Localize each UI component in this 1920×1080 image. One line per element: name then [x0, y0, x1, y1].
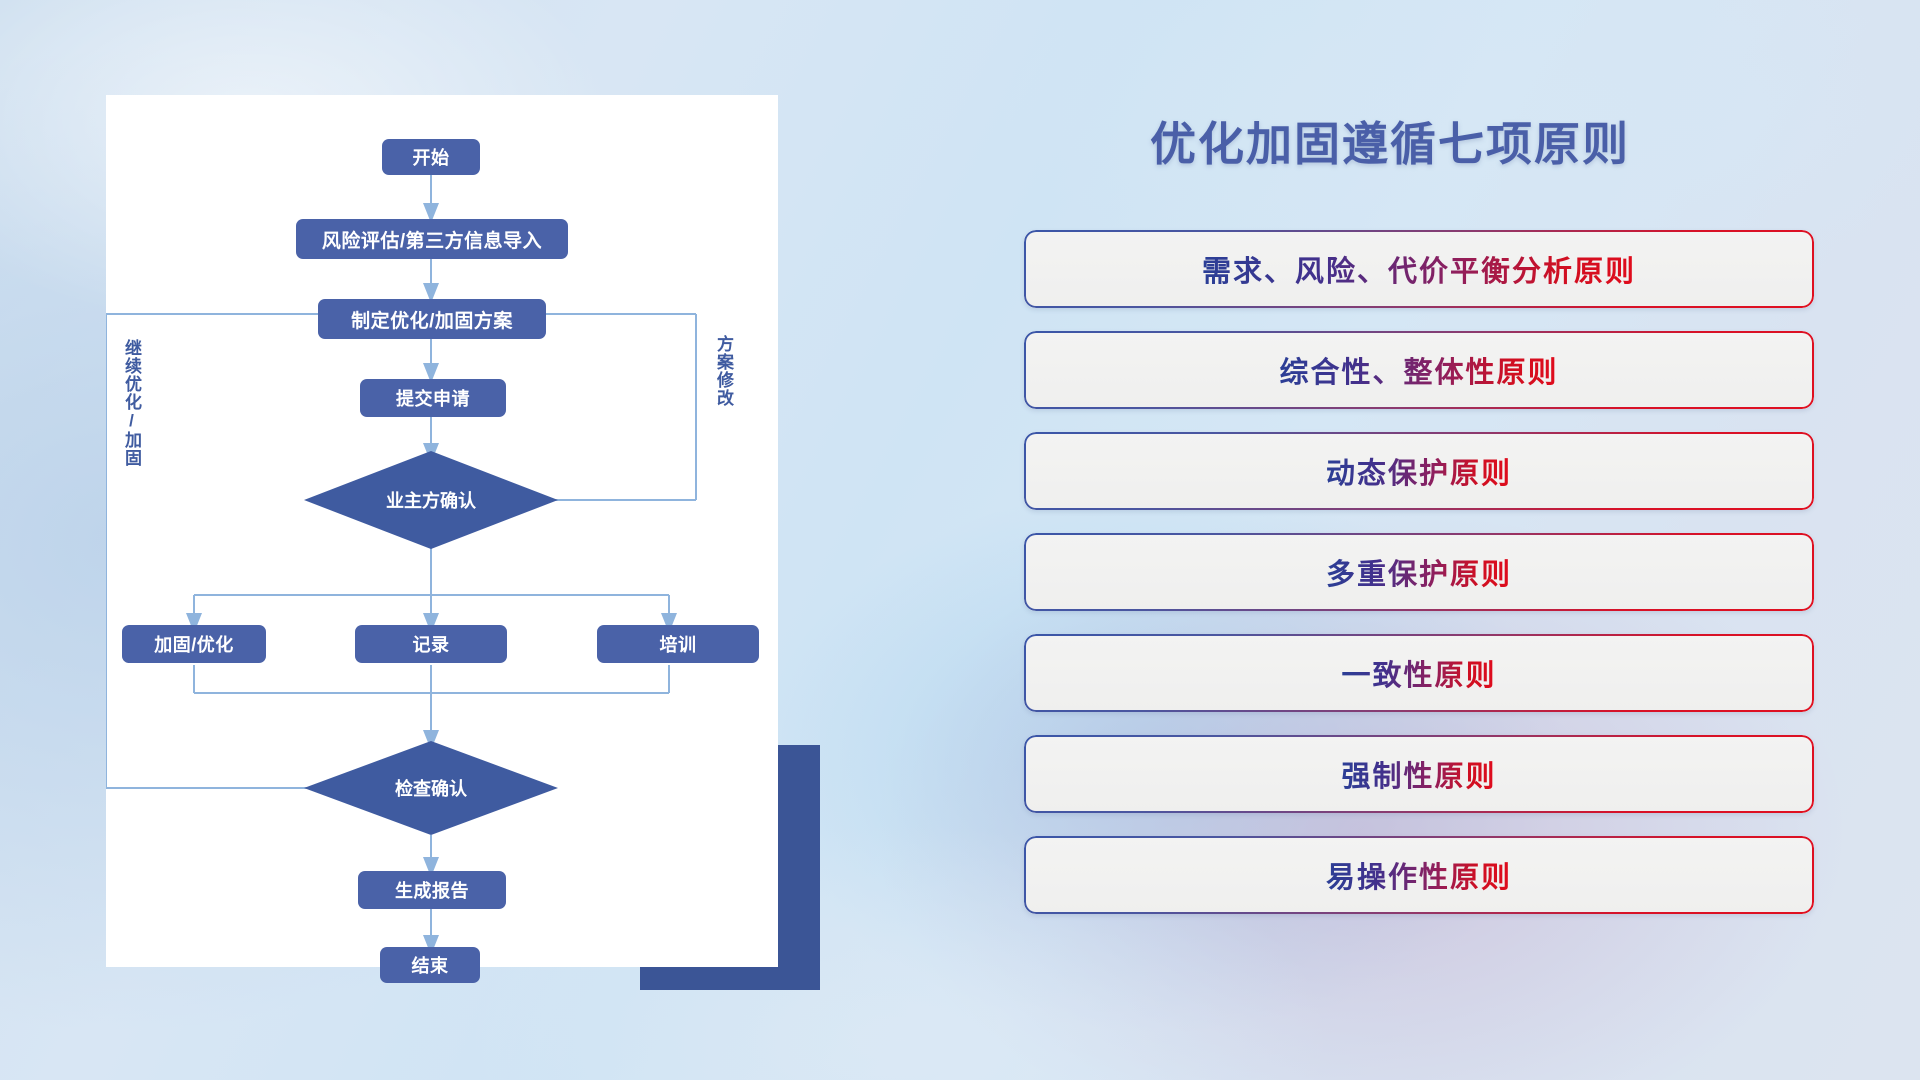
flow-node-make-plan[interactable]: 制定优化/加固方案 [318, 299, 546, 339]
flow-node-label: 业主方确认 [304, 451, 558, 549]
flow-node-generate-report[interactable]: 生成报告 [358, 871, 506, 909]
principle-item-4[interactable]: 多重保护原则 [1024, 533, 1814, 611]
flow-node-label: 记录 [413, 631, 450, 657]
flow-node-label: 生成报告 [395, 877, 469, 903]
flow-node-submit-application[interactable]: 提交申请 [360, 379, 506, 417]
flow-node-label: 提交申请 [396, 385, 470, 411]
flow-edge-label-continue-optimize: 继续优化/加固 [122, 339, 140, 467]
principle-item-5[interactable]: 一致性原则 [1024, 634, 1814, 712]
principle-label: 一致性原则 [1341, 652, 1496, 694]
flow-node-label: 培训 [660, 631, 697, 657]
flow-node-label: 检查确认 [304, 741, 558, 835]
principle-label: 易操作性原则 [1326, 854, 1512, 896]
flow-edge-label-plan-revision: 方案修改 [714, 335, 732, 407]
flow-node-owner-confirm[interactable]: 业主方确认 [304, 451, 558, 549]
flowchart: 开始 风险评估/第三方信息导入 制定优化/加固方案 提交申请 业主方确认 加固/… [106, 95, 778, 967]
principle-label: 动态保护原则 [1326, 450, 1512, 492]
flow-node-record[interactable]: 记录 [355, 625, 507, 663]
flow-node-label: 制定优化/加固方案 [351, 306, 513, 333]
flow-node-inspection-confirm[interactable]: 检查确认 [304, 741, 558, 835]
slide-canvas: 开始 风险评估/第三方信息导入 制定优化/加固方案 提交申请 业主方确认 加固/… [0, 0, 1920, 1080]
flow-node-training[interactable]: 培训 [597, 625, 759, 663]
principle-label: 多重保护原则 [1326, 551, 1512, 593]
page-title: 优化加固遵循七项原则 [1150, 108, 1630, 174]
principle-label: 需求、风险、代价平衡分析原则 [1202, 248, 1636, 290]
flow-node-risk-assessment[interactable]: 风险评估/第三方信息导入 [296, 219, 568, 259]
principle-item-7[interactable]: 易操作性原则 [1024, 836, 1814, 914]
principle-item-6[interactable]: 强制性原则 [1024, 735, 1814, 813]
principle-label: 综合性、整体性原则 [1279, 349, 1558, 391]
flow-node-label: 风险评估/第三方信息导入 [322, 226, 542, 253]
flow-node-label: 结束 [412, 952, 449, 978]
principle-item-2[interactable]: 综合性、整体性原则 [1024, 331, 1814, 409]
principle-item-3[interactable]: 动态保护原则 [1024, 432, 1814, 510]
principle-item-1[interactable]: 需求、风险、代价平衡分析原则 [1024, 230, 1814, 308]
principles-list: 需求、风险、代价平衡分析原则 综合性、整体性原则 动态保护原则 多重保护原则 一… [1024, 230, 1814, 937]
flowchart-card: 开始 风险评估/第三方信息导入 制定优化/加固方案 提交申请 业主方确认 加固/… [106, 95, 778, 967]
flow-node-start[interactable]: 开始 [382, 139, 480, 175]
flow-node-reinforce-optimize[interactable]: 加固/优化 [122, 625, 266, 663]
flow-node-end[interactable]: 结束 [380, 947, 480, 983]
flow-node-label: 加固/优化 [154, 631, 234, 657]
flow-node-label: 开始 [413, 144, 450, 170]
principle-label: 强制性原则 [1341, 753, 1496, 795]
